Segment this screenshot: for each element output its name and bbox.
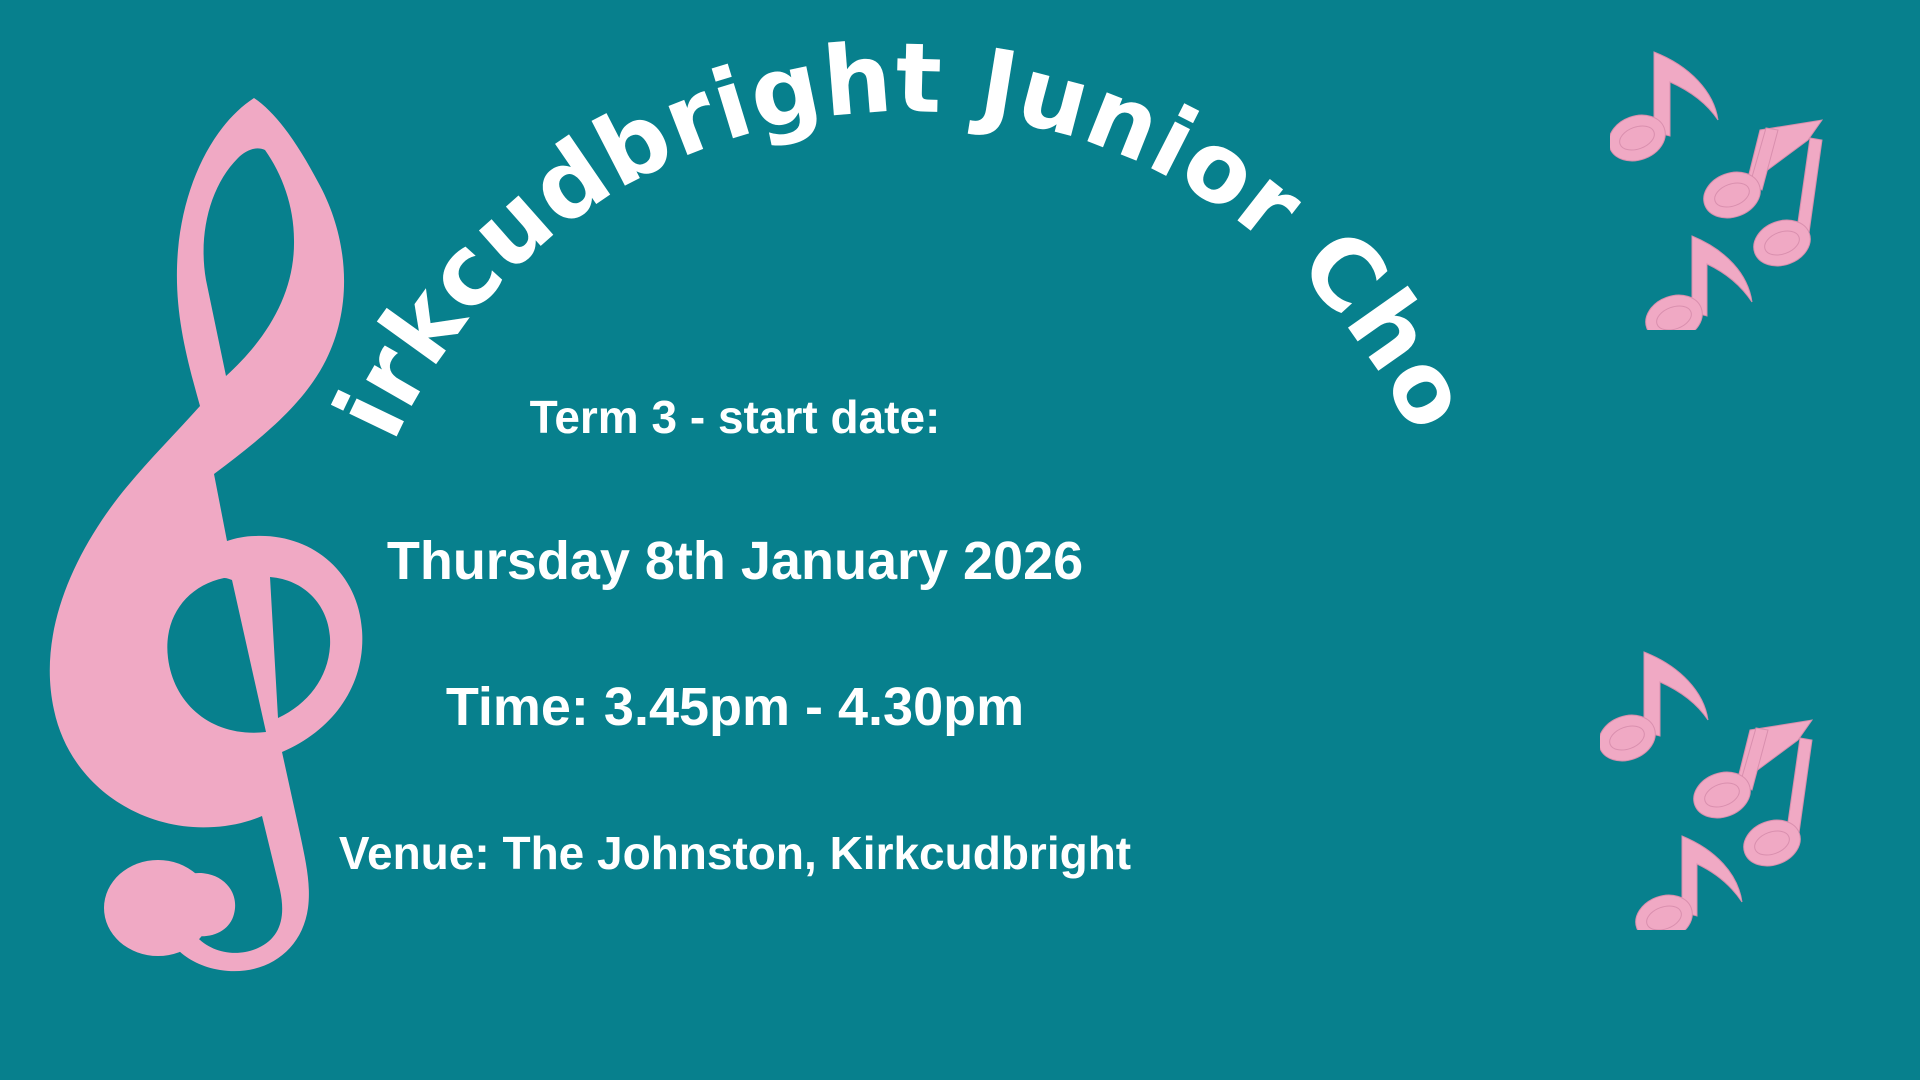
time-line: Time: 3.45pm - 4.30pm [230,676,1240,738]
term-line: Term 3 - start date: [230,390,1240,444]
venue-line: Venue: The Johnston, Kirkcudbright [230,826,1240,880]
svg-text:Kirkcudbright Junior Choir: Kirkcudbright Junior Choir [262,0,1493,454]
music-notes-icon-top [1610,40,1910,330]
page-title-text: Kirkcudbright Junior Choir [262,0,1493,454]
poster-canvas: Kirkcudbright Junior Choir Term 3 - star… [0,0,1920,1080]
music-notes-icon-bottom [1600,640,1900,930]
date-line: Thursday 8th January 2026 [230,530,1240,592]
event-details: Term 3 - start date: Thursday 8th Januar… [230,390,1240,880]
